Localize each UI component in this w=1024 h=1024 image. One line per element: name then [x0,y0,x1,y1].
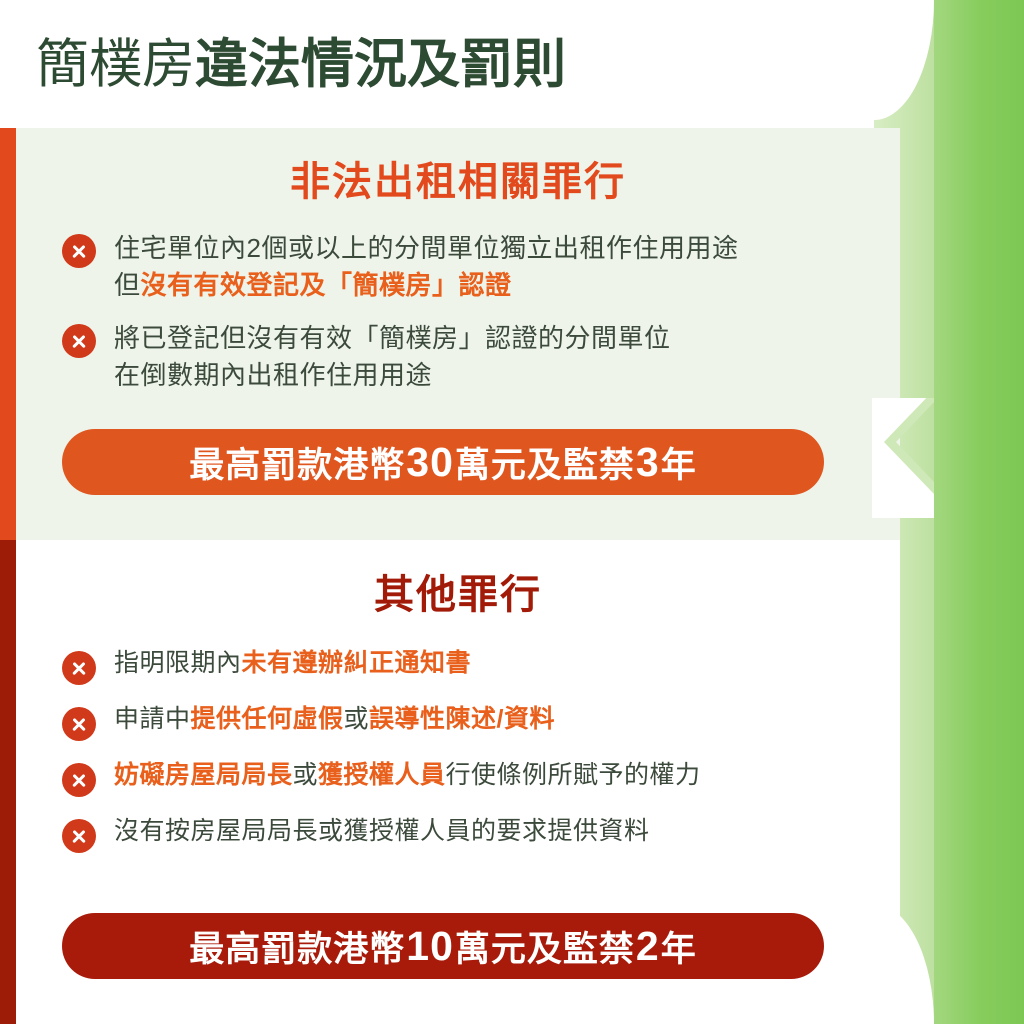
bullet-segment-emphasis: 沒有有效登記及「簡樸房」認證 [141,270,512,300]
bullet-segment: 或 [344,705,370,733]
poster-root: 簡樸房違法情況及罰則 非法出租相關罪行 住宅單位內2個或以上的分間單位獨立出租作… [0,0,1024,1024]
section-1-heading: 非法出租相關罪行 [16,162,900,202]
bullet-segment: 沒有按房屋局局長或獲授權人員的要求提供資料 [114,817,650,845]
section-1-bullet-list: 住宅單位內2個或以上的分間單位獨立出租作住用用途 但沒有有效登記及「簡樸房」認證… [62,230,900,394]
bullet-text: 申請中提供任何虛假或誤導性陳述/資料 [114,703,555,736]
penalty-fine-amount: 30 [405,439,455,486]
title-headline: 違法情況及罰則 [195,35,566,94]
header: 簡樸房違法情況及罰則 [0,0,900,128]
list-item: 申請中提供任何虛假或誤導性陳述/資料 [62,703,900,741]
penalty-banner-section-2: 最高罰款港幣10萬元及監禁2年 [62,913,824,979]
x-circle-icon [62,707,96,741]
penalty-suffix: 年 [661,921,697,972]
penalty-middle: 萬元及監禁 [455,437,635,488]
penalty-suffix: 年 [661,437,697,488]
bullet-segment-emphasis: 妨礙房屋局局長 [114,761,293,789]
penalty-jail-years: 3 [635,439,661,486]
section-2-heading: 其他罪行 [16,575,900,615]
page-title: 簡樸房違法情況及罰則 [36,38,566,91]
x-circle-icon [62,651,96,685]
bullet-text: 指明限期內未有遵辦糾正通知書 [114,647,471,680]
bullet-segment: 住宅單位內2個或以上的分間單位獨立出租作住用用途 [114,233,738,263]
left-accent-stripe-orange [0,128,16,540]
list-item: 沒有按房屋局局長或獲授權人員的要求提供資料 [62,815,900,853]
bullet-segment-emphasis: 誤導性陳述/資料 [369,705,555,733]
bullet-segment: 在倒數期內出租作住用用途 [114,360,432,390]
bullet-segment: 指明限期內 [114,649,242,677]
brand-logo-text: 簡樸房 [36,35,195,94]
x-circle-icon [62,819,96,853]
chevron-left-decoration [872,398,934,518]
bullet-text: 沒有按房屋局局長或獲授權人員的要求提供資料 [114,815,650,848]
x-circle-icon [62,234,96,268]
section-2-bullet-list: 指明限期內未有遵辦糾正通知書 申請中提供任何虛假或誤導性陳述/資料 妨礙房屋局局… [62,647,900,853]
bullet-segment: 或 [293,761,319,789]
bullet-segment-emphasis: 未有遵辦糾正通知書 [242,649,472,677]
bullet-segment-emphasis: 提供任何虛假 [191,705,344,733]
bullet-segment: 行使條例所賦予的權力 [446,761,701,789]
bullet-text: 住宅單位內2個或以上的分間單位獨立出租作住用用途 但沒有有效登記及「簡樸房」認證 [114,230,738,304]
left-accent-stripe-darkred [0,540,16,1024]
x-circle-icon [62,324,96,358]
bullet-segment-emphasis: 獲授權人員 [318,761,446,789]
list-item: 將已登記但沒有有效「簡樸房」認證的分間單位 在倒數期內出租作住用用途 [62,320,900,394]
list-item: 指明限期內未有遵辦糾正通知書 [62,647,900,685]
penalty-banner-section-1: 最高罰款港幣30萬元及監禁3年 [62,429,824,495]
bullet-segment: 申請中 [114,705,191,733]
penalty-fine-amount: 10 [405,923,455,970]
bullet-segment: 將已登記但沒有有效「簡樸房」認證的分間單位 [114,323,671,353]
penalty-prefix: 最高罰款港幣 [189,437,405,488]
penalty-prefix: 最高罰款港幣 [189,921,405,972]
bullet-segment: 但 [114,270,141,300]
penalty-middle: 萬元及監禁 [455,921,635,972]
bullet-text: 妨礙房屋局局長或獲授權人員行使條例所賦予的權力 [114,759,701,792]
x-circle-icon [62,763,96,797]
bullet-text: 將已登記但沒有有效「簡樸房」認證的分間單位 在倒數期內出租作住用用途 [114,320,671,394]
list-item: 住宅單位內2個或以上的分間單位獨立出租作住用用途 但沒有有效登記及「簡樸房」認證 [62,230,900,304]
penalty-jail-years: 2 [635,923,661,970]
list-item: 妨礙房屋局局長或獲授權人員行使條例所賦予的權力 [62,759,900,797]
